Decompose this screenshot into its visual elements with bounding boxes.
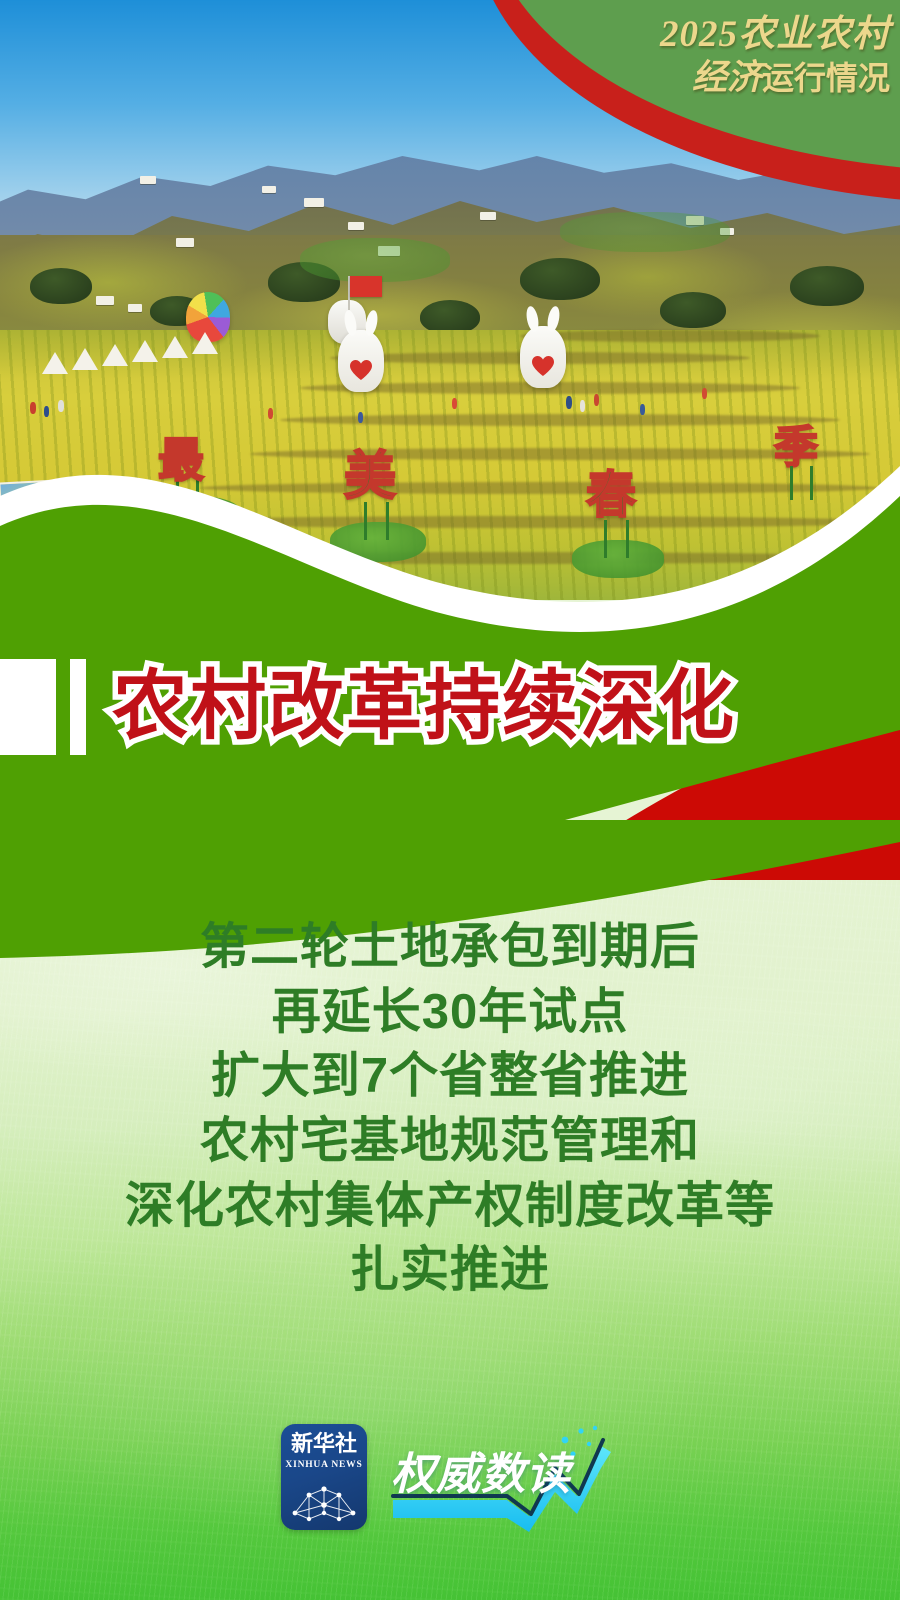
visitor bbox=[566, 396, 572, 409]
header-line-2-rest: 运行情况 bbox=[762, 60, 890, 96]
terrace-contour bbox=[280, 414, 840, 426]
body-line: 扩大到7个省整省推进 bbox=[0, 1044, 900, 1109]
header-title-block: 2025农业农村 经济运行情况 bbox=[560, 14, 890, 99]
visitor bbox=[640, 404, 645, 415]
visitor bbox=[580, 400, 585, 412]
tree-clump bbox=[790, 266, 864, 306]
village-house bbox=[262, 186, 276, 193]
bunny-mascot bbox=[520, 326, 566, 388]
body-line: 第二轮土地承包到期后 bbox=[0, 915, 900, 980]
camping-tent bbox=[192, 332, 218, 354]
body-text-block: 第二轮土地承包到期后 再延长30年试点 扩大到7个省整省推进 农村宅基地规范管理… bbox=[0, 915, 900, 1303]
xinhua-logo-en-text: XINHUA NEWS bbox=[285, 1460, 362, 1470]
tree-clump bbox=[420, 300, 480, 334]
header-line-2-emphasis: 经济 bbox=[692, 58, 762, 97]
visitor bbox=[30, 402, 36, 414]
visitor bbox=[44, 406, 49, 417]
header-line-2: 经济运行情况 bbox=[560, 57, 890, 99]
tree-clump bbox=[520, 258, 600, 300]
camping-tent bbox=[162, 336, 188, 358]
visitor bbox=[594, 394, 599, 406]
village-house bbox=[176, 238, 194, 247]
heart-icon bbox=[532, 356, 554, 376]
body-line: 农村宅基地规范管理和 bbox=[0, 1109, 900, 1174]
title-accent-bar-wide bbox=[0, 659, 56, 755]
heart-icon bbox=[350, 360, 372, 380]
village-house bbox=[480, 212, 496, 220]
bunny-mascot bbox=[338, 330, 384, 392]
body-line: 扎实推进 bbox=[0, 1238, 900, 1303]
visitor bbox=[702, 388, 707, 399]
village-house bbox=[304, 198, 324, 207]
poster-root: 最 美 春 季 2025农业农村 经济运行情况 农村改革持续深化 bbox=[0, 0, 900, 1600]
tree-clump bbox=[30, 268, 92, 304]
village-house bbox=[128, 304, 142, 312]
page-title: 农村改革持续深化 bbox=[112, 665, 736, 749]
camping-tent bbox=[132, 340, 158, 362]
network-graphic-icon bbox=[289, 1483, 359, 1523]
terrace-contour bbox=[520, 330, 820, 342]
camping-tent bbox=[72, 348, 98, 370]
visitor bbox=[358, 412, 363, 423]
visitor bbox=[452, 398, 457, 409]
village-house bbox=[140, 176, 156, 184]
program-logo: 权威数读 bbox=[389, 1422, 619, 1532]
visitor bbox=[268, 408, 273, 419]
camping-tent bbox=[42, 352, 68, 374]
body-line: 深化农村集体产权制度改革等 bbox=[0, 1174, 900, 1239]
village-house bbox=[348, 222, 364, 230]
visitor bbox=[58, 400, 64, 412]
village-house bbox=[96, 296, 114, 305]
xinhua-news-logo: 新华社 XINHUA NEWS bbox=[281, 1424, 367, 1530]
body-line: 再延长30年试点 bbox=[0, 980, 900, 1045]
xinhua-logo-cn-text: 新华社 bbox=[291, 1433, 357, 1455]
rapeseed-patch bbox=[560, 212, 730, 252]
section-title-row: 农村改革持续深化 bbox=[0, 648, 900, 766]
camping-tent bbox=[102, 344, 128, 366]
title-accent-bar-thin bbox=[70, 659, 86, 755]
footer-logos: 新华社 XINHUA NEWS bbox=[0, 1412, 900, 1542]
china-flag bbox=[350, 276, 382, 297]
tree-clump bbox=[660, 292, 726, 328]
program-logo-text: 权威数读 bbox=[391, 1438, 571, 1502]
header-line-1: 2025农业农村 bbox=[560, 14, 890, 55]
